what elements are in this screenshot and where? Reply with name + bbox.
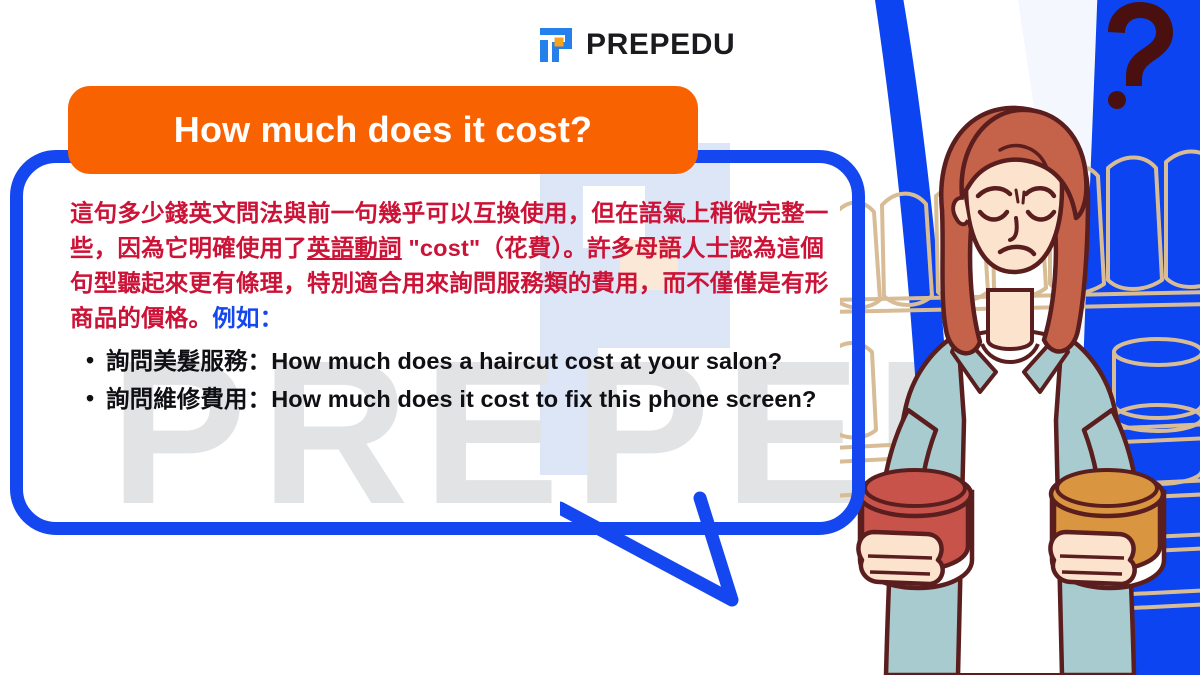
- bullet-label: 詢問維修費用：: [106, 386, 271, 412]
- illustration-confused-woman: [840, 0, 1200, 675]
- explanation-paragraph: 這句多少錢英文問法與前一句幾乎可以互換使用，但在語氣上稍微完整一些，因為它明確使…: [70, 196, 830, 336]
- poster-canvas: PREPED: [0, 0, 1200, 675]
- examples-list: 詢問美髮服務：How much does a haircut cost at y…: [70, 344, 830, 417]
- bullet-example: How much does it cost to fix this phone …: [271, 386, 816, 412]
- speech-bubble-tail: [560, 490, 860, 620]
- brand-logo[interactable]: PREPEDU: [537, 26, 735, 64]
- paragraph-underlined-term: 英語動詞: [307, 235, 402, 261]
- title-banner: How much does it cost?: [68, 86, 698, 174]
- brand-wordmark: PREPEDU: [586, 30, 735, 60]
- page-title: How much does it cost?: [174, 109, 592, 151]
- list-item: 詢問維修費用：How much does it cost to fix this…: [70, 382, 830, 418]
- bullet-example: How much does a haircut cost at your sal…: [271, 348, 782, 374]
- prepedu-logo-icon: [537, 26, 575, 64]
- paragraph-highlight: 例如：: [212, 305, 283, 331]
- bubble-content: 這句多少錢英文問法與前一句幾乎可以互換使用，但在語氣上稍微完整一些，因為它明確使…: [70, 196, 830, 419]
- bullet-label: 詢問美髮服務：: [106, 348, 271, 374]
- list-item: 詢問美髮服務：How much does a haircut cost at y…: [70, 344, 830, 380]
